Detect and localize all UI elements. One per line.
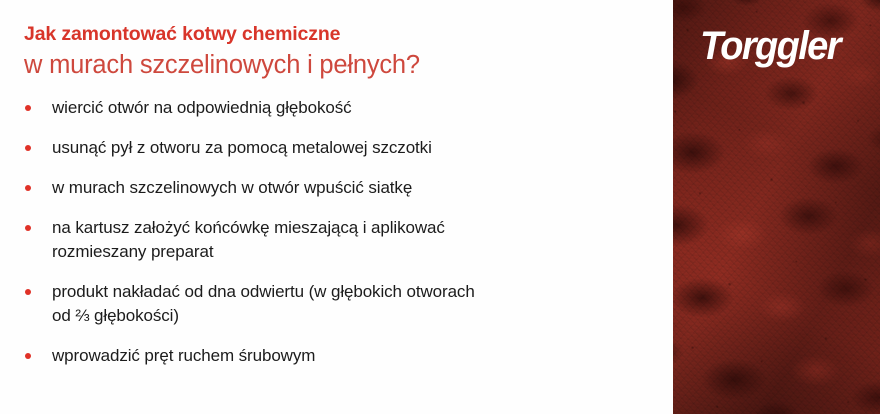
list-item: w murach szczelinowych w otwór wpuścić s… [24, 176, 656, 200]
list-item-label: wiercić otwór na odpowiednią głębokość [52, 96, 656, 120]
list-item: wprowadzić pręt ruchem śrubowym [24, 344, 656, 368]
bullet-dot-icon [25, 353, 31, 359]
slide-root: Jak zamontować kotwy chemiczne w murach … [0, 0, 880, 414]
list-item: wiercić otwór na odpowiednią głębokość [24, 96, 656, 120]
bullet-dot-icon [25, 225, 31, 231]
list-item-label: na kartusz założyć końcówkę mieszającą i… [52, 216, 656, 264]
list-item-label: wprowadzić pręt ruchem śrubowym [52, 344, 656, 368]
list-item: usunąć pył z otworu za pomocą metalowej … [24, 136, 656, 160]
page-title-line-1: Jak zamontować kotwy chemiczne [24, 22, 654, 47]
bullet-dot-icon [25, 289, 31, 295]
list-item-label: w murach szczelinowych w otwór wpuścić s… [52, 176, 656, 200]
brand-panel: Torggler [673, 0, 880, 414]
bullet-dot-icon [25, 185, 31, 191]
page-title-line-2: w murach szczelinowych i pełnych? [24, 49, 654, 82]
list-item: na kartusz założyć końcówkę mieszającą i… [24, 216, 656, 264]
list-item-label: usunąć pył z otworu za pomocą metalowej … [52, 136, 656, 160]
torggler-logo: Torggler [700, 24, 876, 69]
bullet-dot-icon [25, 145, 31, 151]
list-item-label: produkt nakładać od dna odwiertu (w głęb… [52, 280, 656, 328]
instruction-bullet-list: wiercić otwór na odpowiednią głębokość u… [24, 96, 656, 368]
content-panel: Jak zamontować kotwy chemiczne w murach … [0, 0, 673, 414]
heading-block: Jak zamontować kotwy chemiczne w murach … [24, 22, 654, 82]
list-item: produkt nakładać od dna odwiertu (w głęb… [24, 280, 656, 328]
bullet-dot-icon [25, 105, 31, 111]
